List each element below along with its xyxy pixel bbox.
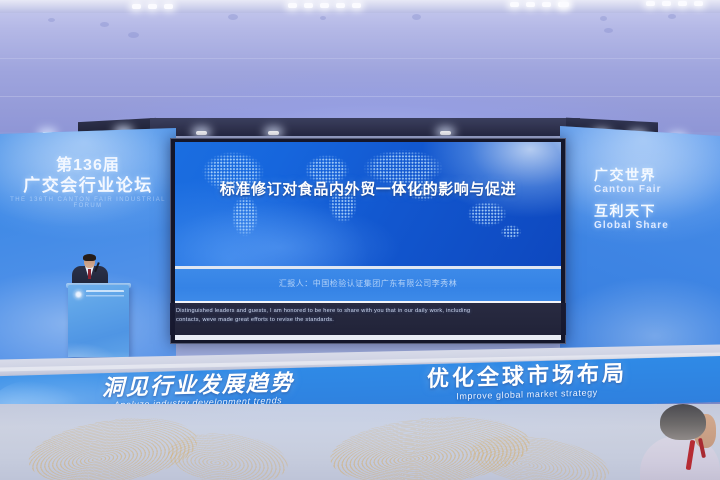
ceiling-vent bbox=[668, 14, 676, 19]
ceiling-downlight-icon bbox=[148, 4, 157, 9]
slogan-block-right: 广交世界 Canton Fair 互利天下 Global Share bbox=[594, 168, 712, 231]
ceiling-downlight-icon bbox=[542, 2, 551, 7]
live-caption-bar: Distinguished leaders and guests, I am h… bbox=[170, 303, 566, 335]
ceiling-downlight-icon bbox=[662, 1, 671, 6]
ceiling-downlight-icon bbox=[304, 3, 313, 8]
floor-light-wash bbox=[0, 404, 720, 480]
floor-carpet bbox=[0, 404, 720, 480]
ceiling-seam bbox=[0, 96, 720, 97]
ceiling-seam bbox=[0, 58, 720, 59]
ceiling bbox=[0, 0, 720, 132]
ceiling-downlight-icon bbox=[352, 3, 361, 8]
forum-edition-label: 第136届 bbox=[8, 158, 168, 174]
podium bbox=[68, 285, 129, 357]
ceiling-downlight-icon bbox=[510, 2, 519, 7]
ceiling-vent bbox=[228, 14, 238, 20]
ceiling-downlight-icon bbox=[336, 3, 345, 8]
speaker-tie bbox=[88, 269, 91, 279]
slogan-cn-1: 广交世界 bbox=[594, 168, 712, 182]
ceiling-vent bbox=[128, 32, 139, 38]
slogan-en-1: Canton Fair bbox=[594, 185, 712, 195]
slogan-cn-2: 互利天下 bbox=[594, 204, 712, 218]
ceiling-downlight-icon bbox=[288, 3, 297, 8]
stage-spotlight-icon bbox=[268, 131, 279, 135]
stage-spotlight-icon bbox=[440, 131, 451, 135]
podium-wave-graphic bbox=[68, 317, 129, 357]
ceiling-downlight-icon bbox=[678, 1, 687, 6]
ceiling-vent bbox=[412, 14, 421, 20]
forum-name-label: 广交会行业论坛 bbox=[8, 177, 168, 194]
ceiling-downlight-icon bbox=[320, 3, 329, 8]
slogan-en-2: Global Share bbox=[594, 221, 712, 231]
slide-presenter-band: 汇报人：中国检验认证集团广东有限公司李秀林 bbox=[175, 269, 561, 301]
ceiling-vent bbox=[600, 16, 607, 21]
ceiling-vent bbox=[604, 28, 613, 33]
conference-hall-photo: 第136届 广交会行业论坛 THE 136TH CANTON FAIR INDU… bbox=[0, 0, 720, 480]
caption-line-2: contacts, weve made great efforts to rev… bbox=[176, 316, 560, 325]
ceiling-vent bbox=[100, 22, 109, 27]
audience-hair bbox=[660, 404, 706, 440]
forum-title-block-left: 第136届 广交会行业论坛 THE 136TH CANTON FAIR INDU… bbox=[8, 158, 168, 209]
backdrop-wall-right bbox=[560, 126, 720, 374]
forum-name-english-label: THE 136TH CANTON FAIR INDUSTRIAL FORUM bbox=[8, 197, 168, 209]
speaker-hair bbox=[83, 254, 96, 261]
slide-presenter-label: 汇报人：中国检验认证集团广东有限公司李秀林 bbox=[175, 278, 561, 289]
podium-logo-wordmark bbox=[86, 290, 124, 299]
ceiling-downlight-icon bbox=[646, 1, 655, 6]
podium-logo-icon bbox=[74, 290, 83, 299]
ceiling-downlight-icon bbox=[560, 2, 569, 7]
ceiling-downlight-icon bbox=[526, 2, 535, 7]
banner-slogan-right: 优化全球市场布局 Improve global market strategy bbox=[362, 361, 692, 404]
ceiling-vent bbox=[48, 18, 55, 22]
ceiling-vent bbox=[320, 16, 326, 20]
presentation-slide: 标准修订对食品内外贸一体化的影响与促进 bbox=[175, 142, 561, 266]
ceiling-downlight-icon bbox=[694, 1, 703, 6]
slide-title: 标准修订对食品内外贸一体化的影响与促进 bbox=[175, 178, 561, 199]
stage-spotlight-icon bbox=[196, 131, 207, 135]
ceiling-downlight-icon bbox=[164, 4, 173, 9]
caption-line-1: Distinguished leaders and guests, I am h… bbox=[176, 307, 560, 316]
ceiling-downlight-icon bbox=[132, 4, 141, 9]
